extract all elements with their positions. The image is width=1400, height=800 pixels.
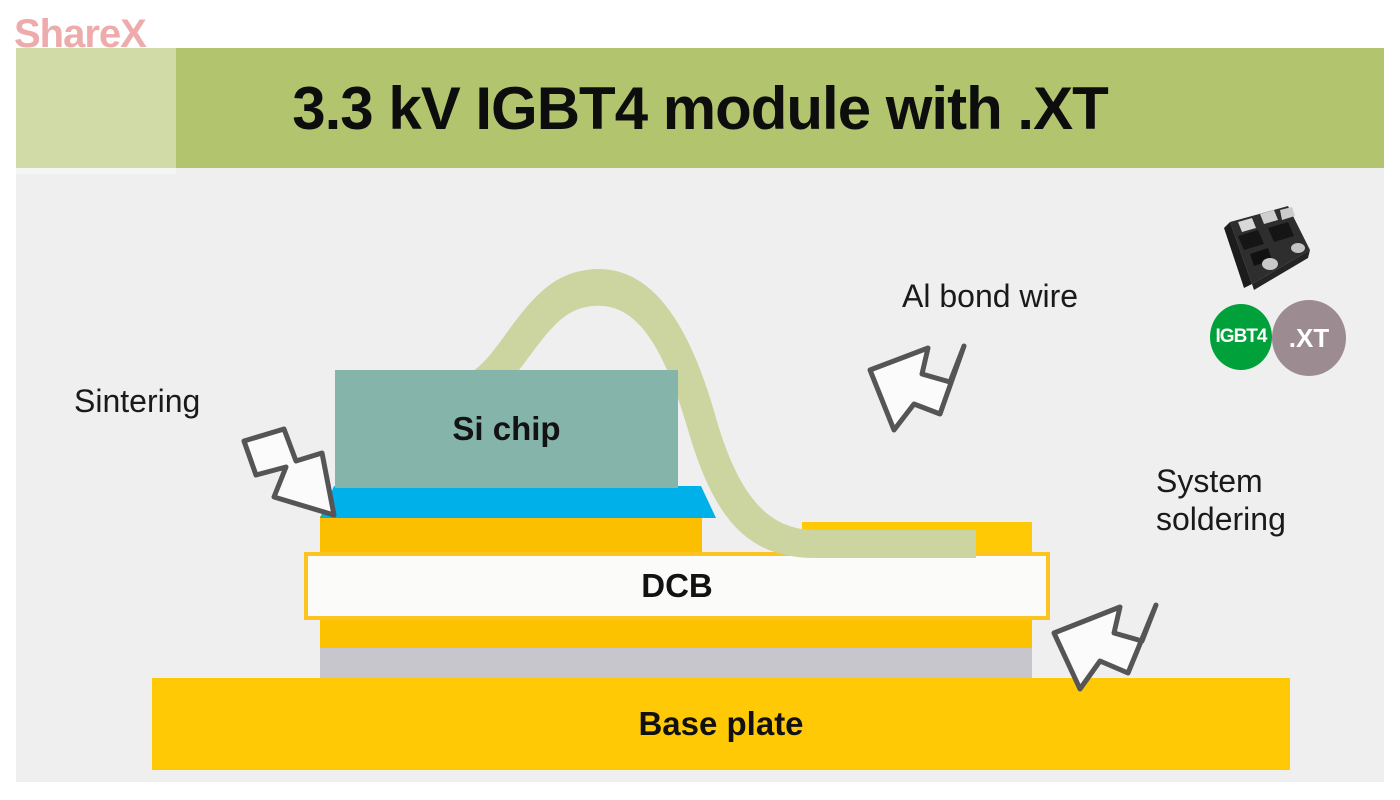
page-title: 3.3 kV IGBT4 module with .XT bbox=[292, 74, 1108, 143]
arrow-bond-wire-icon bbox=[864, 338, 974, 443]
layer-label-base-plate: Base plate bbox=[638, 705, 803, 743]
layer-label-si-chip: Si chip bbox=[452, 410, 560, 448]
layer-copper-bottom bbox=[320, 618, 1032, 648]
layer-dcb: DCB bbox=[304, 552, 1050, 620]
callout-label-system-soldering: System soldering bbox=[1156, 463, 1286, 539]
layer-base-plate: Base plate bbox=[152, 678, 1290, 770]
badge-igbt4: IGBT4 bbox=[1210, 304, 1272, 370]
badge-xt-label: .XT bbox=[1289, 323, 1329, 354]
badge-xt: .XT bbox=[1272, 300, 1346, 376]
layer-system-solder bbox=[320, 646, 1032, 680]
layer-label-dcb: DCB bbox=[641, 567, 713, 605]
product-cluster: IGBT4 .XT bbox=[1202, 192, 1362, 392]
badge-igbt4-label: IGBT4 bbox=[1216, 326, 1267, 348]
slide-canvas: ShareX 3.3 kV IGBT4 module with .XT Base… bbox=[0, 0, 1400, 800]
callout-label-bond-wire: Al bond wire bbox=[902, 278, 1078, 316]
layer-si-chip: Si chip bbox=[335, 370, 678, 488]
layer-sintering bbox=[316, 486, 716, 518]
title-banner: 3.3 kV IGBT4 module with .XT bbox=[16, 48, 1384, 168]
igbt-module-photo-icon bbox=[1210, 192, 1318, 300]
callout-label-sintering: Sintering bbox=[74, 383, 200, 421]
diagram-stage: Base plate DCB Si chip Sintering bbox=[16, 168, 1384, 782]
